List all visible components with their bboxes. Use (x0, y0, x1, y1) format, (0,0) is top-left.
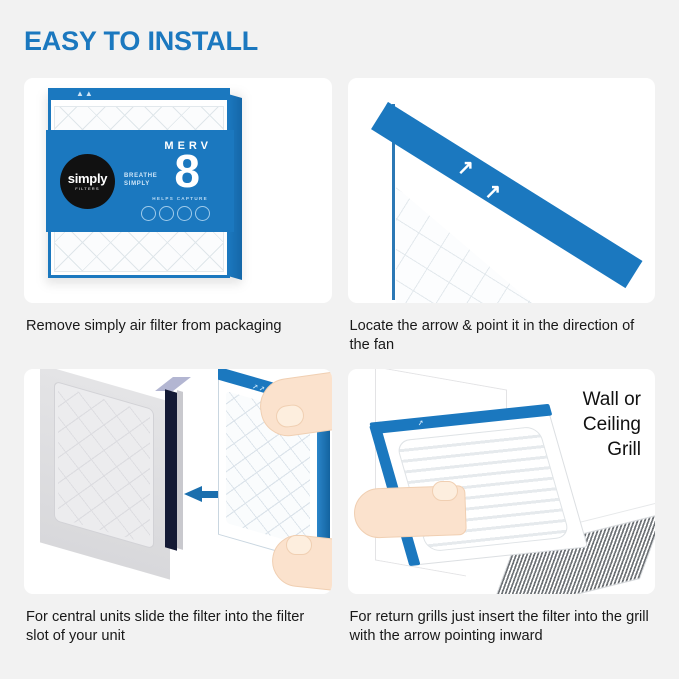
product-box-illustration: ▲▲ simply FILTERS BREATHE SIMPLY MERV (40, 84, 255, 292)
lint-icon (177, 206, 192, 221)
step-2-image-card: ↗ ↗ (348, 78, 656, 303)
step-cell-3: ➚➚ For central units slide the filter in… (0, 369, 340, 660)
tagline-line-2: SIMPLY (124, 180, 157, 188)
easy-to-install-infographic: EASY TO INSTALL ▲▲ simply (0, 0, 679, 679)
arrow-head (184, 486, 202, 502)
wall-label-line-1: Wall or (583, 387, 641, 412)
step-cell-1: ▲▲ simply FILTERS BREATHE SIMPLY MERV (0, 78, 340, 369)
arrow-band-illustration: ↗ ↗ (348, 78, 656, 303)
brand-logo-main-text: simply (68, 173, 107, 185)
tagline: BREATHE SIMPLY (124, 172, 157, 188)
wall-label-line-3: Grill (583, 437, 641, 462)
step-cell-2: ↗ ↗ Locate the arrow & point it in the d… (340, 78, 679, 369)
steps-grid: ▲▲ simply FILTERS BREATHE SIMPLY MERV (0, 78, 679, 660)
central-unit-illustration: ➚➚ (24, 369, 332, 594)
filter-slot-opening (165, 389, 177, 550)
airflow-arrow-icon-2: ↗ (484, 179, 501, 204)
page-title: EASY TO INSTALL (24, 26, 258, 57)
merv-rating-number: 8 (174, 148, 200, 194)
dust-icon (159, 206, 174, 221)
brand-logo: simply FILTERS (60, 154, 115, 209)
thumb-lower (286, 535, 312, 555)
brand-logo-sub-text: FILTERS (75, 186, 100, 191)
hvac-unit-top-cap (155, 377, 191, 391)
step-4-caption: For return grills just insert the filter… (348, 594, 656, 660)
wall-or-ceiling-grill-label: Wall or Ceiling Grill (583, 387, 641, 462)
steps-row-1: ▲▲ simply FILTERS BREATHE SIMPLY MERV (0, 78, 679, 369)
step-1-caption: Remove simply air filter from packaging (24, 303, 332, 369)
step-3-image-card: ➚➚ (24, 369, 332, 594)
mold-icon (195, 206, 210, 221)
steps-row-2: ➚➚ For central units slide the filter in… (0, 369, 679, 660)
step-4-image-card: ➚ Wall or Ceiling Grill (348, 369, 656, 594)
hvac-unit-quilt-pattern (58, 386, 150, 544)
tagline-line-1: BREATHE (124, 172, 157, 180)
box-top-arrow-icon: ▲▲ (76, 89, 94, 98)
step-2-caption: Locate the arrow & point it in the direc… (348, 303, 656, 369)
helps-capture-label: HELPS CAPTURE (152, 196, 208, 201)
pollen-icon (141, 206, 156, 221)
wall-label-line-2: Ceiling (583, 412, 641, 437)
capture-icon-row (141, 206, 210, 221)
filter-slot-lip (177, 390, 183, 550)
step-1-image-card: ▲▲ simply FILTERS BREATHE SIMPLY MERV (24, 78, 332, 303)
step-3-caption: For central units slide the filter into … (24, 594, 332, 660)
airflow-arrow-icon-1: ↗ (457, 155, 474, 180)
product-label: simply FILTERS BREATHE SIMPLY MERV 8 HEL… (46, 130, 234, 232)
step-cell-4: ➚ Wall or Ceiling Grill For return grill… (340, 369, 679, 660)
return-grill-illustration: ➚ Wall or Ceiling Grill (348, 369, 656, 594)
thumb-holding-grill (432, 481, 458, 501)
